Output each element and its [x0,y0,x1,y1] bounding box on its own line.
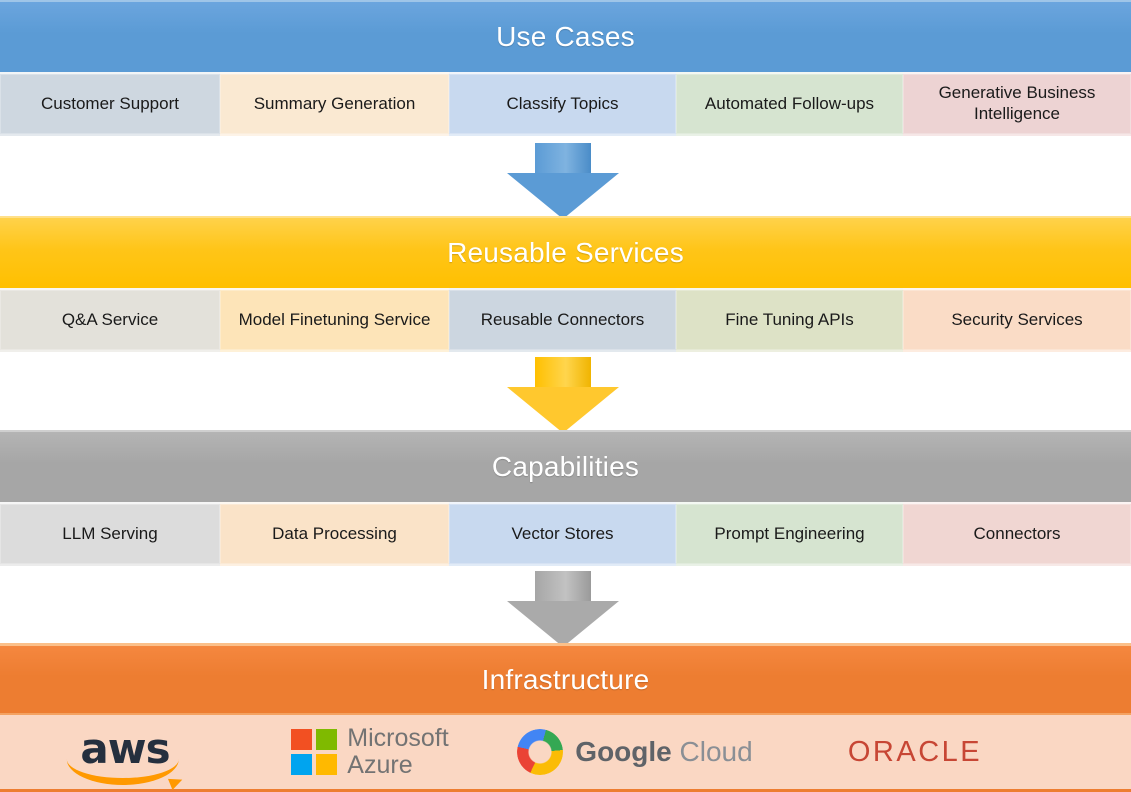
layer-capabilities: Capabilities LLM Serving Data Processing… [0,430,1131,566]
cell-label: Automated Follow-ups [705,94,874,115]
oracle-logo[interactable]: ORACLE [780,715,1050,789]
layer-infrastructure: Infrastructure aws Microsoft Azure [0,643,1131,792]
cell-qa-service[interactable]: Q&A Service [0,288,220,352]
infrastructure-logo-strip: aws Microsoft Azure Google Cloud [0,715,1131,792]
cell-label: Vector Stores [511,524,613,545]
google-cloud-logo[interactable]: Google Cloud [490,715,780,789]
band-title-use-cases: Use Cases [496,23,635,51]
cell-label: Data Processing [272,524,397,545]
google-cloud-mark-icon [517,729,563,775]
band-capabilities: Capabilities [0,430,1131,502]
layer-reusable-services: Reusable Services Q&A Service Model Fine… [0,216,1131,352]
cell-data-processing[interactable]: Data Processing [220,502,449,566]
cell-automated-follow-ups[interactable]: Automated Follow-ups [676,72,903,136]
band-title-capabilities: Capabilities [492,453,639,481]
cell-label: Prompt Engineering [714,524,864,545]
cell-fine-tuning-apis[interactable]: Fine Tuning APIs [676,288,903,352]
cell-customer-support[interactable]: Customer Support [0,72,220,136]
cell-prompt-engineering[interactable]: Prompt Engineering [676,502,903,566]
microsoft-square-green [316,729,337,750]
cell-connectors[interactable]: Connectors [903,502,1131,566]
band-title-infrastructure: Infrastructure [482,666,650,694]
band-infrastructure: Infrastructure [0,643,1131,715]
microsoft-square-blue [291,754,312,775]
oracle-wordmark: ORACLE [848,736,982,769]
arrow-shaft [535,357,591,391]
cell-label: Security Services [951,310,1082,331]
cell-label: Connectors [974,524,1061,545]
cells-use-cases: Customer Support Summary Generation Clas… [0,72,1131,136]
microsoft-line: Microsoft [347,724,448,752]
arrow-head [507,601,619,647]
cell-security-services[interactable]: Security Services [903,288,1131,352]
cell-label: Reusable Connectors [481,310,644,331]
band-use-cases: Use Cases [0,0,1131,72]
azure-line: Azure [347,751,412,779]
cells-capabilities: LLM Serving Data Processing Vector Store… [0,502,1131,566]
cloud-word: Cloud [680,736,753,767]
layer-use-cases: Use Cases Customer Support Summary Gener… [0,0,1131,136]
cells-reusable-services: Q&A Service Model Finetuning Service Reu… [0,288,1131,352]
arrow-down-capabilities-to-infrastructure [507,571,619,647]
arrow-down-services-to-capabilities [507,357,619,433]
google-cloud-wordmark: Google Cloud [575,738,752,766]
microsoft-squares-icon [291,729,337,775]
google-word: Google [575,736,671,767]
cell-llm-serving[interactable]: LLM Serving [0,502,220,566]
cell-model-finetuning-service[interactable]: Model Finetuning Service [220,288,449,352]
architecture-diagram: Use Cases Customer Support Summary Gener… [0,0,1131,786]
aws-smile-icon [67,754,179,785]
aws-logo[interactable]: aws [0,715,250,789]
microsoft-azure-logo[interactable]: Microsoft Azure [250,715,490,789]
microsoft-square-yellow [316,754,337,775]
arrow-head [507,173,619,219]
arrow-shaft [535,571,591,605]
cell-label: Summary Generation [254,94,416,115]
cell-label: Generative Business Intelligence [909,83,1125,124]
cell-vector-stores[interactable]: Vector Stores [449,502,676,566]
arrow-shaft [535,143,591,177]
band-reusable-services: Reusable Services [0,216,1131,288]
cell-label: Customer Support [41,94,179,115]
band-title-reusable-services: Reusable Services [447,239,684,267]
cell-label: Fine Tuning APIs [725,310,854,331]
cell-label: LLM Serving [62,524,157,545]
cell-summary-generation[interactable]: Summary Generation [220,72,449,136]
cell-reusable-connectors[interactable]: Reusable Connectors [449,288,676,352]
cell-label: Q&A Service [62,310,158,331]
cell-generative-business-intelligence[interactable]: Generative Business Intelligence [903,72,1131,136]
microsoft-azure-wordmark: Microsoft Azure [347,725,448,779]
cell-classify-topics[interactable]: Classify Topics [449,72,676,136]
cell-label: Classify Topics [506,94,618,115]
cell-label: Model Finetuning Service [239,310,431,331]
microsoft-square-red [291,729,312,750]
arrow-down-use-cases-to-services [507,143,619,219]
arrow-head [507,387,619,433]
